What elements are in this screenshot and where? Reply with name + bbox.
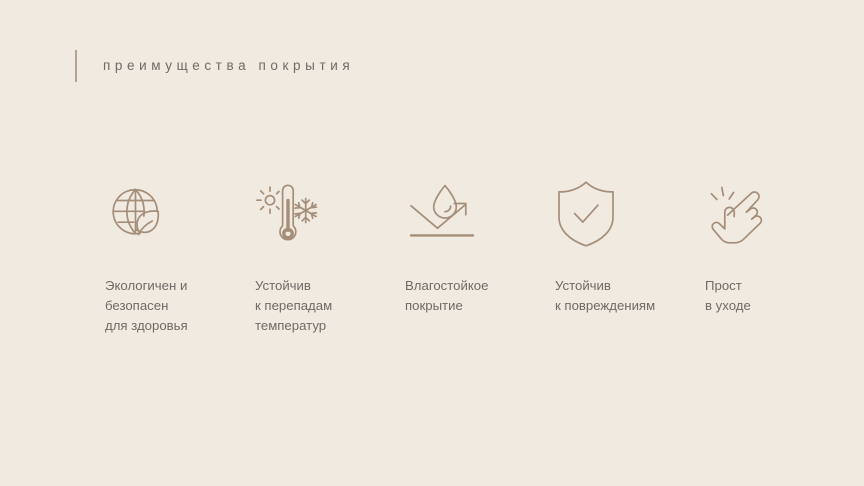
thermometer-sun-snowflake-icon [255, 178, 321, 250]
feature-item-moisture: Влагостойкое покрытие [405, 178, 555, 316]
hand-click-icon [705, 178, 771, 250]
water-repellent-droplet-icon [405, 178, 485, 250]
title-accent-bar [75, 50, 77, 82]
globe-leaf-icon [105, 178, 171, 250]
feature-label: Устойчив к перепадам температур [255, 276, 332, 336]
features-row: Экологичен и безопасен для здоровья [105, 178, 825, 336]
feature-label: Устойчив к повреждениям [555, 276, 655, 316]
slide-root: преимущества покрытия Экологичен и безоп… [0, 0, 864, 486]
feature-item-temperature: Устойчив к перепадам температур [255, 178, 405, 336]
feature-item-durability: Устойчив к повреждениям [555, 178, 705, 316]
shield-check-icon [555, 178, 617, 250]
feature-item-eco: Экологичен и безопасен для здоровья [105, 178, 255, 336]
feature-label: Влагостойкое покрытие [405, 276, 488, 316]
feature-label: Экологичен и безопасен для здоровья [105, 276, 188, 336]
page-title-block: преимущества покрытия [75, 50, 354, 82]
feature-item-easy-care: Прост в уходе [705, 178, 855, 316]
feature-label: Прост в уходе [705, 276, 751, 316]
page-title: преимущества покрытия [103, 50, 354, 82]
